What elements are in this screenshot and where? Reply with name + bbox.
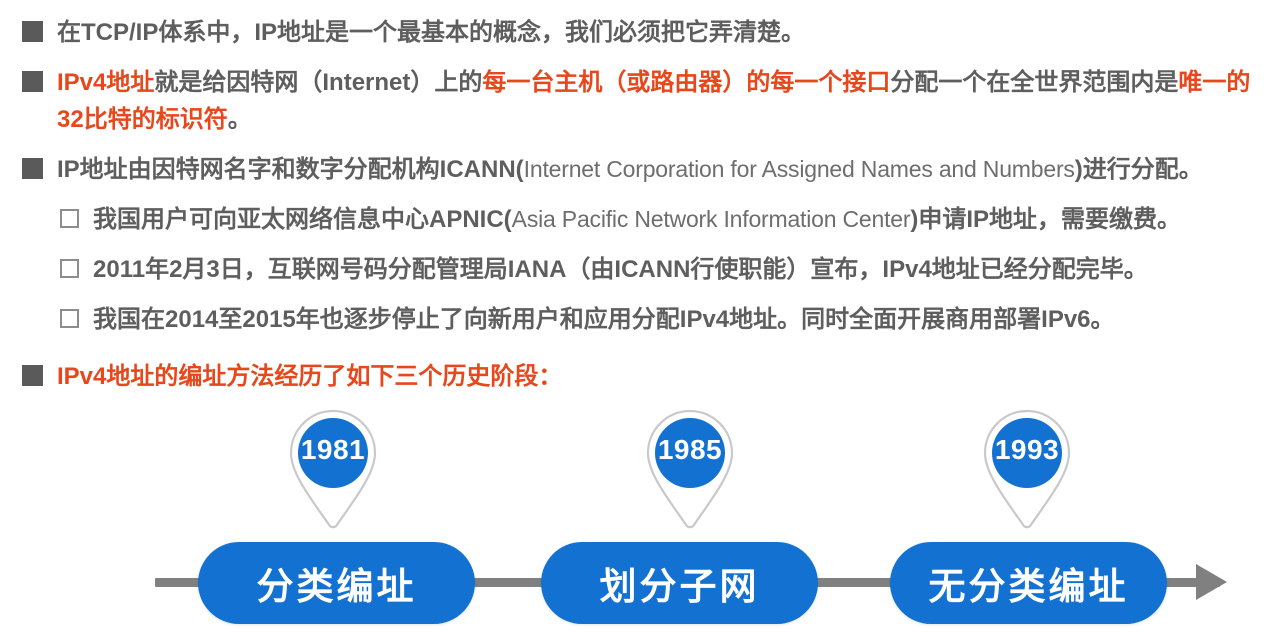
text-segment: 在TCP/IP体系中，IP地址是一个最基本的概念，我们必须把它弄清楚。 [57,19,805,46]
timeline-arrow-icon [1196,564,1227,600]
bullet-text-ipv4-definition: IPv4地址就是给因特网（Internet）上的每一台主机（或路由器）的每一个接… [57,64,1275,138]
ipv4-addressing-history-timeline: 1981 1985 1993 分类编址 划分子网 无分类编址 [0,400,1280,642]
bullet-row-tcpip-concept: 在TCP/IP体系中，IP地址是一个最基本的概念，我们必须把它弄清楚。 [22,14,805,51]
text-segment: )申请IP地址，需要缴费。 [910,206,1181,233]
timeline-stage-label: 无分类编址 [929,556,1129,610]
timeline-stage-classless[interactable]: 无分类编址 [890,542,1167,624]
timeline-pin-1981[interactable]: 1981 [284,408,382,530]
timeline-pin-year-label: 1993 [978,434,1076,466]
bullet-row-icann: IP地址由因特网名字和数字分配机构ICANN(Internet Corporat… [22,151,1203,188]
text-segment: 我国用户可向亚太网络信息中心APNIC( [93,206,512,233]
bullet-row-iana-exhaustion: 2011年2月3日，互联网号码分配管理局IANA（由ICANN行使职能）宣布，I… [60,251,1148,288]
map-pin-icon [641,408,739,530]
filled-square-bullet-icon [22,365,43,386]
text-segment: 我国在2014至2015年也逐步停止了向新用户和应用分配IPv4地址。同时全面开… [93,306,1115,333]
timeline-stage-label: 分类编址 [257,556,417,610]
text-segment: IP地址由因特网名字和数字分配机构ICANN( [57,156,524,183]
timeline-stage-classful[interactable]: 分类编址 [198,542,475,624]
text-segment: 就是给因特网（Internet）上的 [154,69,482,96]
bullet-text-icann: IP地址由因特网名字和数字分配机构ICANN(Internet Corporat… [57,151,1203,188]
bullet-row-ipv4-definition: IPv4地址就是给因特网（Internet）上的每一台主机（或路由器）的每一个接… [22,64,1275,138]
bullet-text-tcpip-concept: 在TCP/IP体系中，IP地址是一个最基本的概念，我们必须把它弄清楚。 [57,14,805,51]
filled-square-bullet-icon [22,71,43,92]
hollow-square-bullet-icon [60,309,79,328]
bullet-text-china-ipv6: 我国在2014至2015年也逐步停止了向新用户和应用分配IPv4地址。同时全面开… [93,301,1115,338]
text-segment: 2011年2月3日，互联网号码分配管理局IANA（由ICANN行使职能）宣布，I… [93,256,1148,283]
timeline-pin-year-label: 1985 [641,434,739,466]
slide-canvas: 在TCP/IP体系中，IP地址是一个最基本的概念，我们必须把它弄清楚。 IPv4… [0,0,1280,642]
hollow-square-bullet-icon [60,209,79,228]
text-segment: 分配一个在全世界范围内是 [890,69,1178,96]
map-pin-icon [978,408,1076,530]
timeline-pin-1993[interactable]: 1993 [978,408,1076,530]
timeline-pin-year-label: 1981 [284,434,382,466]
filled-square-bullet-icon [22,158,43,179]
timeline-stage-label: 划分子网 [600,556,760,610]
bullet-row-china-ipv6: 我国在2014至2015年也逐步停止了向新用户和应用分配IPv4地址。同时全面开… [60,301,1115,338]
text-segment: 。 [228,106,252,133]
text-segment-english: Internet Corporation for Assigned Names … [524,156,1075,182]
text-segment-highlight: IPv4地址的编址方法经历了如下三个历史阶段： [57,363,562,390]
bullet-row-three-stages: IPv4地址的编址方法经历了如下三个历史阶段： [22,358,562,395]
bullet-row-apnic: 我国用户可向亚太网络信息中心APNIC(Asia Pacific Network… [60,201,1181,238]
filled-square-bullet-icon [22,21,43,42]
bullet-text-three-stages: IPv4地址的编址方法经历了如下三个历史阶段： [57,358,562,395]
map-pin-icon [284,408,382,530]
timeline-pin-1985[interactable]: 1985 [641,408,739,530]
hollow-square-bullet-icon [60,259,79,278]
text-segment-highlight: 每一台主机（或路由器）的每一个接口 [482,69,890,96]
bullet-text-iana-exhaustion: 2011年2月3日，互联网号码分配管理局IANA（由ICANN行使职能）宣布，I… [93,251,1148,288]
text-segment-english: Asia Pacific Network Information Center [512,206,911,232]
text-segment: )进行分配。 [1075,156,1203,183]
text-segment-highlight: IPv4地址 [57,69,154,96]
bullet-text-apnic: 我国用户可向亚太网络信息中心APNIC(Asia Pacific Network… [93,201,1181,238]
timeline-stage-subnetting[interactable]: 划分子网 [541,542,818,624]
